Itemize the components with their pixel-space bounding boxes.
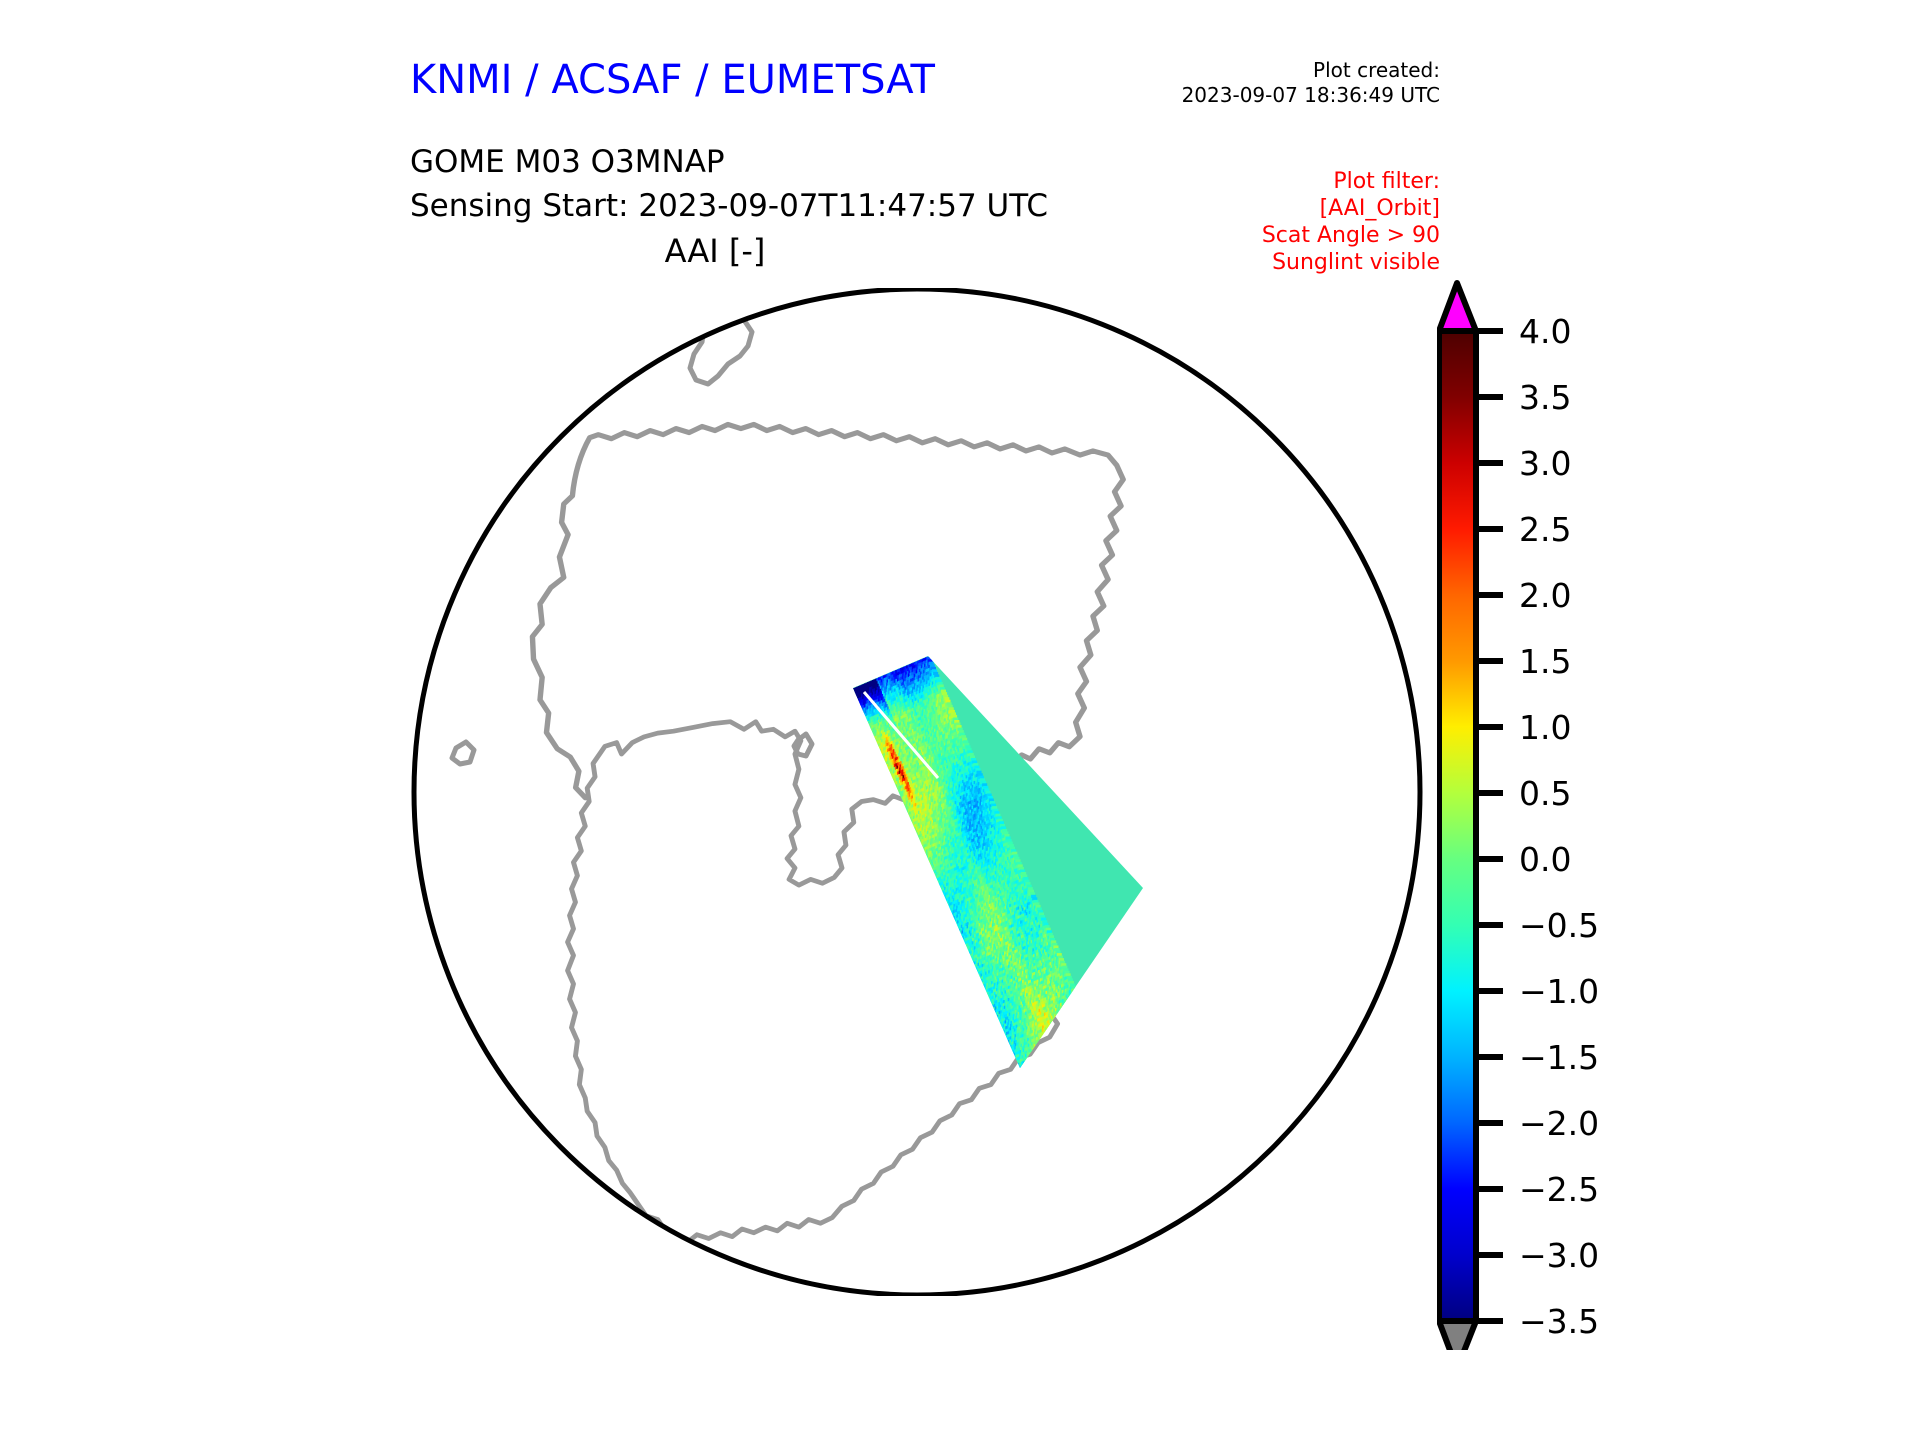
colorbar-ticks: 4.03.53.02.52.01.51.00.50.0−0.5−1.0−1.5−… [1476,312,1599,1341]
tasmania-island [510,400,548,442]
new-zealand-north-island [744,288,770,302]
colorbar[interactable]: 4.03.53.02.52.01.51.00.50.0−0.5−1.0−1.5−… [1437,240,1857,1350]
plot-filter-variable: [AAI_Orbit] [1120,195,1440,222]
organisation-title: KNMI / ACSAF / EUMETSAT [410,57,935,103]
colorbar-tick-label: 0.0 [1519,840,1571,879]
colorbar-over-arrow [1439,283,1476,331]
colorbar-tick-label: −1.5 [1519,1038,1599,1077]
colorbar-tick-label: 3.0 [1519,444,1571,483]
colorbar-under-arrow [1439,1321,1476,1350]
colorbar-tick-label: −2.5 [1519,1170,1599,1209]
sensing-start: Sensing Start: 2023-09-07T11:47:57 UTC [410,184,1048,228]
colorbar-tick-label: 2.0 [1519,576,1571,615]
plot-filter-block: Plot filter: [AAI_Orbit] Scat Angle > 90… [1120,168,1440,276]
island-small-west [452,742,474,764]
colorbar-tick-label: 2.5 [1519,510,1571,549]
colorbar-tick-label: 1.0 [1519,708,1571,747]
colorbar-tick-label: −3.5 [1519,1302,1599,1341]
colorbar-tick-label: 3.5 [1519,378,1571,417]
colorbar-tick-label: −1.0 [1519,972,1599,1011]
dataset-name: GOME M03 O3MNAP [410,140,1048,184]
plot-filter-label: Plot filter: [1120,168,1440,195]
plot-created-block: Plot created: 2023-09-07 18:36:49 UTC [1100,58,1440,108]
map-plot-area [408,288,1426,1296]
colorbar-tick-label: −0.5 [1519,906,1599,945]
colorbar-tick-label: 0.5 [1519,774,1571,813]
plot-filter-sunglint: Sunglint visible [1120,249,1440,276]
colorbar-tick-label: 1.5 [1519,642,1571,681]
australia-southeast-coast [408,398,496,438]
plot-created-timestamp: 2023-09-07 18:36:49 UTC [1100,83,1440,108]
colorbar-tick-label: −3.0 [1519,1236,1599,1275]
colorbar-gradient[interactable] [1439,331,1476,1321]
colorbar-tick-label: 4.0 [1519,312,1571,351]
colorbar-tick-label: −2.0 [1519,1104,1599,1143]
plot-filter-scat-angle: Scat Angle > 90 [1120,222,1440,249]
northern-landmasses-group [408,288,770,442]
dataset-block: GOME M03 O3MNAP Sensing Start: 2023-09-0… [410,140,1048,228]
plot-created-label: Plot created: [1100,58,1440,83]
